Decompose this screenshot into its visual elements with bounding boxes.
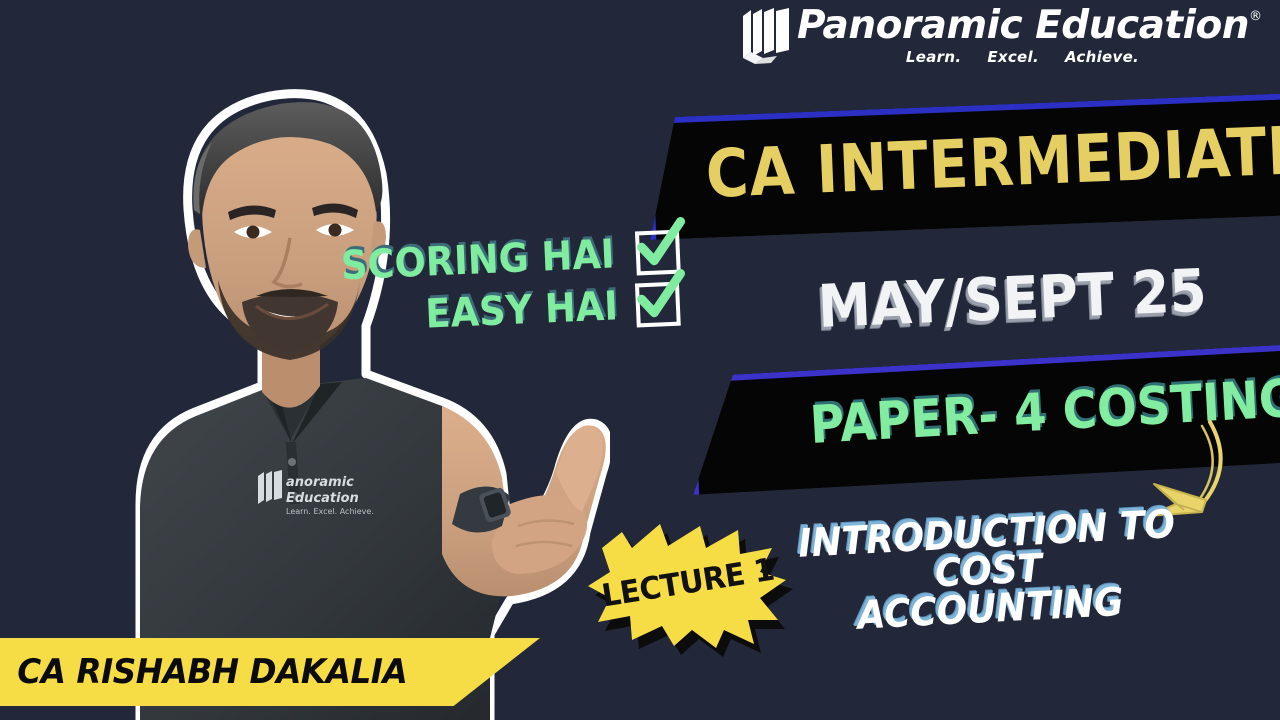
svg-text:anoramic: anoramic bbox=[286, 475, 354, 490]
registered-mark: ® bbox=[1249, 10, 1262, 23]
benefit-label-scoring: SCORING HAI bbox=[340, 231, 615, 289]
benefit-row-scoring: SCORING HAI bbox=[339, 229, 681, 290]
checkbox-scoring[interactable] bbox=[635, 230, 681, 276]
tagline-word-achieve: Achieve. bbox=[1065, 48, 1139, 66]
brand-tagline: Learn. Excel. Achieve. bbox=[797, 48, 1262, 66]
tagline-word-excel: Excel. bbox=[987, 48, 1039, 66]
check-icon bbox=[632, 271, 686, 325]
presenter-photo: anoramic Education Learn. Excel. Achieve… bbox=[0, 34, 610, 720]
benefits-list: SCORING HAI EASY HAI bbox=[340, 236, 680, 340]
stacked-book-pages-icon bbox=[741, 6, 793, 68]
benefit-label-easy: EASY HAI bbox=[424, 283, 618, 337]
svg-text:Education: Education bbox=[286, 491, 359, 506]
topic-title: INTRODUCTION TO COST ACCOUNTING bbox=[756, 504, 1221, 640]
benefit-row-easy: EASY HAI bbox=[339, 281, 681, 342]
thumbnail-canvas: Panoramic Education ® Learn. Excel. Achi… bbox=[0, 0, 1280, 720]
brand-text: Panoramic Education ® Learn. Excel. Achi… bbox=[797, 6, 1262, 66]
faculty-name-banner: CA RISHABH DAKALIA bbox=[0, 638, 540, 706]
brand-logo: Panoramic Education ® Learn. Excel. Achi… bbox=[741, 6, 1262, 68]
brand-name: Panoramic Education bbox=[797, 6, 1249, 47]
tagline-word-learn: Learn. bbox=[906, 48, 961, 66]
lecture-badge: LECTURE 1 bbox=[588, 518, 788, 648]
check-icon bbox=[632, 219, 686, 273]
faculty-name: CA RISHABH DAKALIA bbox=[0, 652, 407, 692]
checkbox-easy[interactable] bbox=[635, 282, 681, 328]
session-title: MAY/SEPT 25 bbox=[817, 256, 1208, 341]
svg-text:Learn. Excel. Achieve.: Learn. Excel. Achieve. bbox=[286, 507, 374, 516]
